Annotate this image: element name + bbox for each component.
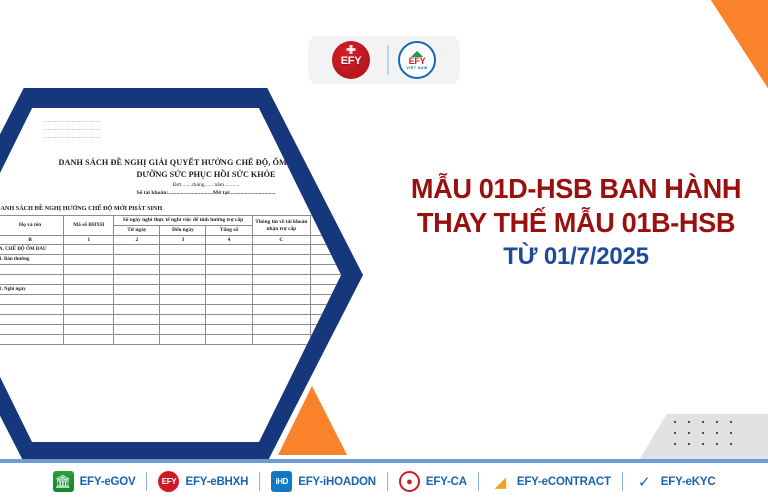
cell xyxy=(311,275,341,285)
row-label xyxy=(0,295,64,305)
cell xyxy=(252,295,311,305)
row-label xyxy=(0,325,64,335)
cell xyxy=(114,275,160,285)
cell xyxy=(114,325,160,335)
footer-label-ekyc: EFY-eKYC xyxy=(661,476,716,488)
brand-logo-group: EFY ◢◣ EFY VIỆT NAM xyxy=(308,36,460,84)
th-name: Họ và tên xyxy=(0,216,64,236)
footer-item-ekyc[interactable]: ✓ EFY-eKYC xyxy=(623,471,727,492)
colnum-1: 1 xyxy=(64,236,114,245)
footer-label-ebhxh: EFY-eBHXH xyxy=(185,476,248,488)
cell xyxy=(206,295,252,305)
cell xyxy=(160,245,206,255)
cell xyxy=(64,265,114,275)
cell xyxy=(206,285,252,295)
cell xyxy=(64,335,114,345)
cell xyxy=(160,265,206,275)
cell xyxy=(64,325,114,335)
row-label xyxy=(0,315,64,325)
cell xyxy=(252,285,311,295)
cell xyxy=(206,335,252,345)
th-from-date: Từ ngày xyxy=(114,226,160,236)
row-label: A. CHẾ ĐỘ ỐM ĐAU xyxy=(0,245,64,255)
cell xyxy=(160,315,206,325)
efy-circle-icon: EFY xyxy=(158,471,179,492)
cell xyxy=(64,295,114,305)
efy-vietnam-sub: VIỆT NAM xyxy=(406,66,427,70)
footer-item-egov[interactable]: 🏛 EFY-eGOV xyxy=(42,471,147,492)
headline-line-2: THAY THẾ MẪU 01B-HSB xyxy=(401,206,750,240)
row-label: 2. Nghỉ ngày xyxy=(0,285,64,295)
cell xyxy=(114,265,160,275)
cell xyxy=(160,305,206,315)
cell xyxy=(114,335,160,345)
cell xyxy=(114,315,160,325)
colnum-2: 2 xyxy=(114,236,160,245)
footer-label-econtract: EFY-eCONTRACT xyxy=(517,476,611,488)
cell xyxy=(114,285,160,295)
headline-line-1: MẪU 01D-HSB BAN HÀNH xyxy=(401,172,750,206)
face-check-icon: ✓ xyxy=(634,471,655,492)
row-label xyxy=(0,275,64,285)
form-dotline-1: ............................... xyxy=(44,118,214,126)
row-label xyxy=(0,305,64,315)
form-dotline-3: ............................... xyxy=(44,134,214,142)
poster-canvas: ............................... ........… xyxy=(0,0,768,500)
cell xyxy=(160,325,206,335)
cell xyxy=(206,245,252,255)
table-row xyxy=(0,315,341,325)
cell xyxy=(64,285,114,295)
colnum-3: 3 xyxy=(160,236,206,245)
dot-grid-decor xyxy=(674,421,744,454)
table-row: 2. Nghỉ ngày xyxy=(0,285,341,295)
cell xyxy=(252,275,311,285)
footer-label-ihoadon: EFY-iHOADON xyxy=(298,476,376,488)
cell xyxy=(64,305,114,315)
cell xyxy=(311,265,341,275)
cell xyxy=(160,255,206,265)
table-body: A. CHẾ ĐỘ ỐM ĐAU 1. Bản thường xyxy=(0,245,341,345)
footer-label-egov: EFY-eGOV xyxy=(80,476,136,488)
table-row xyxy=(0,325,341,335)
form-title-line2: DƯỠNG SỨC PHỤC HỒI SỨC KHỎE xyxy=(0,170,341,179)
colnum-0: B xyxy=(0,236,64,245)
cell xyxy=(64,275,114,285)
footer-item-ca[interactable]: ● EFY-CA xyxy=(388,471,478,492)
efy-ehealth-logo-icon: EFY xyxy=(332,41,370,79)
form-dotline-2: ............................... xyxy=(44,126,214,134)
cell xyxy=(114,305,160,315)
efy-wordmark-red: EFY xyxy=(341,55,362,67)
cell xyxy=(64,245,114,255)
medical-cross-icon xyxy=(347,45,356,54)
headline-line-3: TỪ 01/7/2025 xyxy=(396,242,756,272)
colnum-5: C xyxy=(252,236,311,245)
cell xyxy=(206,325,252,335)
cell xyxy=(206,315,252,325)
row-label xyxy=(0,335,64,345)
cell xyxy=(252,315,311,325)
contract-flag-icon: ◢ xyxy=(490,471,511,492)
th-to-date: Đến ngày xyxy=(160,226,206,236)
ca-seal-icon: ● xyxy=(399,471,420,492)
th-days-group: Số ngày nghỉ thực tế nghỉ việc để tính h… xyxy=(114,216,252,226)
form-table: Họ và tên Mã số BHXH Số ngày nghỉ thực t… xyxy=(0,215,341,345)
table-row xyxy=(0,335,341,345)
hexagon-document-frame: ............................... ........… xyxy=(0,88,363,462)
cell xyxy=(206,255,252,265)
table-row: A. CHẾ ĐỘ ỐM ĐAU xyxy=(0,245,341,255)
cell xyxy=(160,335,206,345)
headline-block: MẪU 01D-HSB BAN HÀNH THAY THẾ MẪU 01B-HS… xyxy=(396,172,756,272)
cell xyxy=(160,295,206,305)
form-section-title: DANH SÁCH ĐỀ NGHỊ HƯỞNG CHẾ ĐỘ MỚI PHÁT … xyxy=(0,205,341,212)
cell xyxy=(64,255,114,265)
cell xyxy=(206,305,252,315)
cell xyxy=(252,305,311,315)
table-row xyxy=(0,275,341,285)
orange-corner-triangle xyxy=(638,0,768,92)
footer-item-ebhxh[interactable]: EFY EFY-eBHXH xyxy=(147,471,259,492)
cell xyxy=(206,265,252,275)
th-bhxh-code: Mã số BHXH xyxy=(64,216,114,236)
table-header-row-1: Họ và tên Mã số BHXH Số ngày nghỉ thực t… xyxy=(0,216,341,226)
row-label: 1. Bản thường xyxy=(0,255,64,265)
table-column-number-row: B 1 2 3 4 C D E xyxy=(0,236,341,245)
logo-divider xyxy=(387,45,389,75)
footer-product-bar: 🏛 EFY-eGOV EFY EFY-eBHXH iHD EFY-iHOADON… xyxy=(0,463,768,500)
form-period-line: Đợt........tháng.......năm........... xyxy=(0,182,341,188)
row-label xyxy=(0,265,64,275)
cell xyxy=(252,255,311,265)
cell xyxy=(206,275,252,285)
cell xyxy=(114,295,160,305)
efy-vietnam-logo-icon: ◢◣ EFY VIỆT NAM xyxy=(398,41,436,79)
cell xyxy=(252,265,311,275)
th-total: Tổng số xyxy=(206,226,252,236)
cell xyxy=(252,325,311,335)
cell xyxy=(252,245,311,255)
table-row xyxy=(0,295,341,305)
cell xyxy=(160,285,206,295)
ihd-square-icon: iHD xyxy=(271,471,292,492)
th-account-info: Thông tin về tài khoản nhận trợ cấp xyxy=(252,216,311,236)
table-row xyxy=(0,265,341,275)
efy-wordmark-blue: EFY xyxy=(409,57,426,66)
table-row xyxy=(0,305,341,315)
form-account-line: Số tài khoản:...........................… xyxy=(0,190,341,196)
cell xyxy=(64,315,114,325)
footer-label-ca: EFY-CA xyxy=(426,476,467,488)
cell xyxy=(114,245,160,255)
cell xyxy=(252,335,311,345)
cell xyxy=(160,275,206,285)
colnum-4: 4 xyxy=(206,236,252,245)
table-row: 1. Bản thường xyxy=(0,255,341,265)
cell xyxy=(114,255,160,265)
bank-building-icon: 🏛 xyxy=(53,471,74,492)
footer-item-econtract[interactable]: ◢ EFY-eCONTRACT xyxy=(479,471,622,492)
footer-item-ihoadon[interactable]: iHD EFY-iHOADON xyxy=(260,471,387,492)
